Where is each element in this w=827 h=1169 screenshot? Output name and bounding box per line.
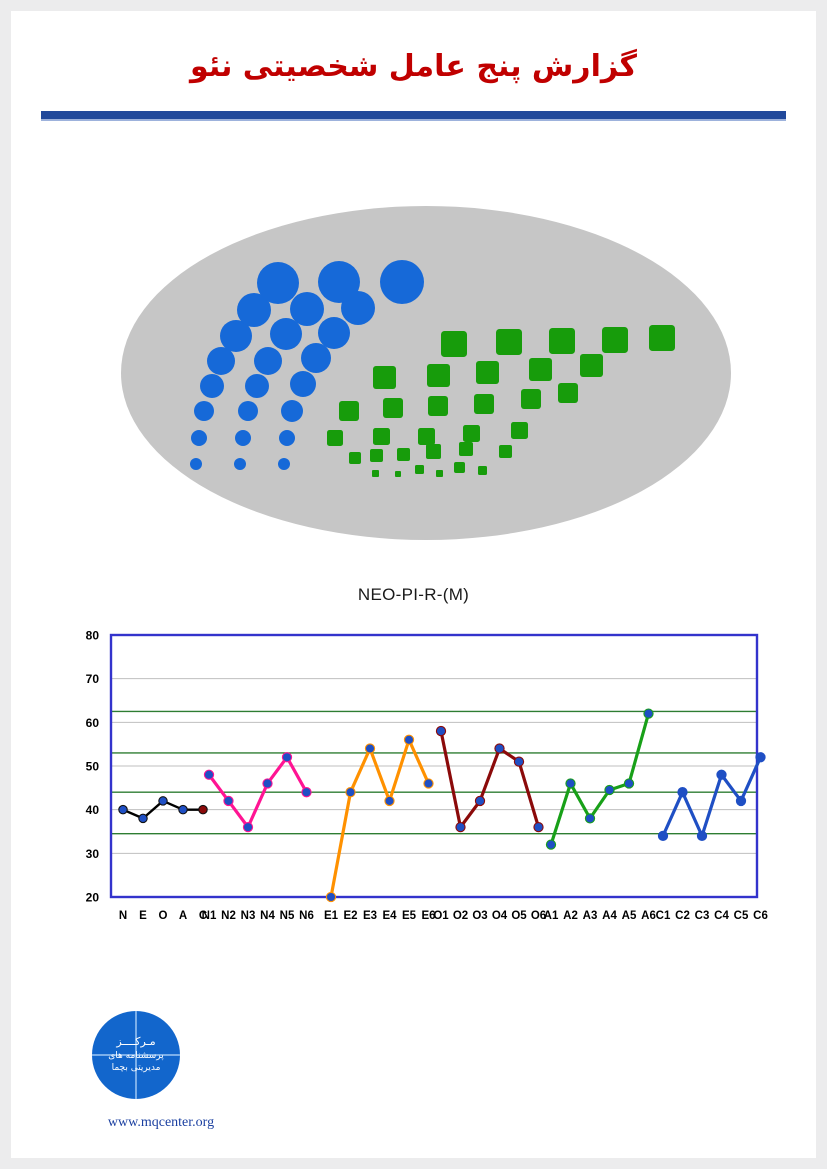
data-point bbox=[282, 753, 291, 762]
x-axis-tick-label: N bbox=[119, 910, 127, 922]
x-axis-tick-label: A1 bbox=[544, 910, 559, 922]
x-axis-tick-label: C2 bbox=[675, 910, 690, 922]
data-point bbox=[179, 805, 187, 813]
data-point bbox=[139, 814, 147, 822]
chart-title: NEO-PI-R-(M) bbox=[11, 585, 816, 605]
data-point bbox=[736, 796, 745, 805]
x-axis-tick-label: A6 bbox=[641, 910, 656, 922]
document-page: گزارش پنج عامل شخصیتی نئو bbox=[11, 11, 816, 1158]
decor-svg bbox=[121, 206, 731, 541]
x-axis-tick-label: C5 bbox=[734, 910, 749, 922]
logo-text: مـرکــــز پرسشنامه های مدیریتی بچما bbox=[92, 1011, 180, 1099]
x-axis-tick-label: N5 bbox=[280, 910, 295, 922]
chart-series bbox=[546, 709, 653, 849]
data-point bbox=[534, 823, 543, 832]
x-axis-tick-label: E4 bbox=[382, 910, 397, 922]
x-axis-tick-label: O1 bbox=[433, 910, 449, 922]
chart-gridlines bbox=[111, 679, 757, 854]
x-axis-tick-label: O4 bbox=[492, 910, 508, 922]
data-point bbox=[204, 770, 213, 779]
data-point bbox=[365, 744, 374, 753]
mqcenter-logo[interactable]: مـرکــــز پرسشنامه های مدیریتی بچما bbox=[92, 1011, 180, 1099]
website-url[interactable]: www.mqcenter.org bbox=[66, 1115, 256, 1131]
data-point bbox=[224, 796, 233, 805]
x-axis-tick-label: A4 bbox=[602, 910, 617, 922]
logo-line-1: مـرکــــز bbox=[116, 1035, 155, 1050]
data-point bbox=[302, 788, 311, 797]
x-axis-tick-label: A3 bbox=[583, 910, 598, 922]
data-point bbox=[404, 735, 413, 744]
x-axis-tick-label: E3 bbox=[363, 910, 377, 922]
data-point bbox=[119, 805, 127, 813]
x-axis-tick-label: N6 bbox=[299, 910, 314, 922]
data-point bbox=[566, 779, 575, 788]
header-divider-shadow bbox=[41, 119, 786, 121]
data-point bbox=[346, 788, 355, 797]
x-axis-tick-label: A bbox=[179, 910, 187, 922]
data-point bbox=[159, 797, 167, 805]
data-point bbox=[585, 814, 594, 823]
chart-series-group bbox=[119, 709, 765, 902]
logo-line-2: پرسشنامه های bbox=[108, 1050, 164, 1062]
data-point bbox=[697, 831, 706, 840]
data-point bbox=[199, 805, 207, 813]
y-axis-tick-label: 20 bbox=[86, 891, 100, 905]
decor-ellipse bbox=[121, 206, 731, 540]
x-axis-tick-label: E2 bbox=[343, 910, 357, 922]
x-axis-tick-label: C4 bbox=[714, 910, 729, 922]
y-axis-tick-label: 50 bbox=[86, 760, 100, 774]
x-axis-tick-label: O3 bbox=[472, 910, 487, 922]
x-axis-tick-label: N2 bbox=[221, 910, 236, 922]
chart-y-axis-labels: 20304050607080 bbox=[86, 629, 100, 905]
data-point bbox=[243, 823, 252, 832]
data-point bbox=[756, 753, 765, 762]
ellipse-dot-graphic bbox=[121, 206, 731, 541]
footer-logo-block: مـرکــــز پرسشنامه های مدیریتی بچما www.… bbox=[66, 1011, 256, 1141]
y-axis-tick-label: 30 bbox=[86, 847, 100, 861]
data-point bbox=[624, 779, 633, 788]
series-line bbox=[663, 757, 761, 836]
x-axis-tick-label: A2 bbox=[563, 910, 578, 922]
x-axis-tick-label: C3 bbox=[695, 910, 710, 922]
x-axis-tick-label: C1 bbox=[656, 910, 671, 922]
x-axis-tick-label: O2 bbox=[453, 910, 468, 922]
data-point bbox=[424, 779, 433, 788]
header-divider bbox=[41, 111, 786, 119]
x-axis-tick-label: O bbox=[159, 910, 168, 922]
y-axis-tick-label: 40 bbox=[86, 803, 100, 817]
x-axis-tick-label: E bbox=[139, 910, 147, 922]
data-point bbox=[326, 892, 335, 901]
data-point bbox=[546, 840, 555, 849]
data-point bbox=[475, 796, 484, 805]
chart-series bbox=[436, 726, 543, 831]
data-point bbox=[495, 744, 504, 753]
x-axis-tick-label: E1 bbox=[324, 910, 339, 922]
x-axis-tick-label: C6 bbox=[753, 910, 768, 922]
y-axis-tick-label: 80 bbox=[86, 629, 100, 643]
data-point bbox=[678, 788, 687, 797]
y-axis-tick-label: 70 bbox=[86, 672, 100, 686]
data-point bbox=[658, 831, 667, 840]
x-axis-tick-label: N4 bbox=[260, 910, 275, 922]
x-axis-tick-label: E5 bbox=[402, 910, 417, 922]
x-axis-tick-label: N3 bbox=[241, 910, 256, 922]
data-point bbox=[514, 757, 523, 766]
data-point bbox=[385, 796, 394, 805]
series-line bbox=[441, 731, 539, 827]
y-axis-tick-label: 60 bbox=[86, 716, 100, 730]
data-point bbox=[263, 779, 272, 788]
logo-line-3: مدیریتی بچما bbox=[112, 1062, 161, 1074]
page-title: گزارش پنج عامل شخصیتی نئو bbox=[11, 49, 816, 84]
series-line bbox=[331, 740, 429, 897]
x-axis-tick-label: O5 bbox=[511, 910, 527, 922]
chart-x-axis-labels: NEOACN1N2N3N4N5N6E1E2E3E4E5E6O1O2O3O4O5O… bbox=[119, 910, 768, 922]
x-axis-tick-label: A5 bbox=[622, 910, 637, 922]
chart-series bbox=[326, 735, 433, 901]
data-point bbox=[436, 726, 445, 735]
chart-svg: 20304050607080 NEOACN1N2N3N4N5N6E1E2E3E4… bbox=[11, 619, 816, 929]
x-axis-tick-label: N1 bbox=[202, 910, 217, 922]
data-point bbox=[717, 770, 726, 779]
data-point bbox=[605, 785, 614, 794]
data-point bbox=[644, 709, 653, 718]
data-point bbox=[456, 823, 465, 832]
series-line bbox=[551, 714, 649, 845]
neo-profile-chart: 20304050607080 NEOACN1N2N3N4N5N6E1E2E3E4… bbox=[11, 619, 816, 929]
